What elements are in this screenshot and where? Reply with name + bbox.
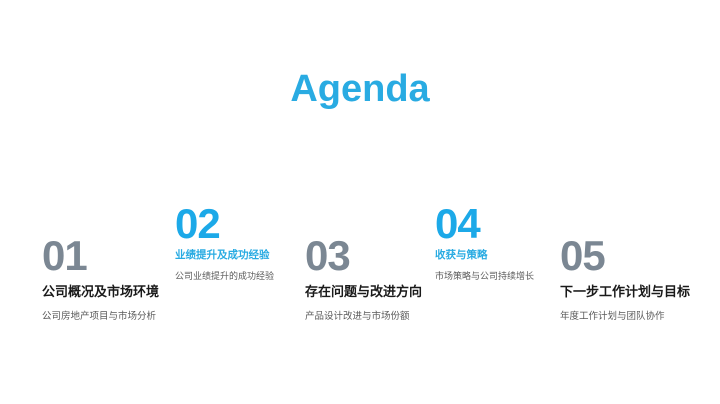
agenda-item-03[interactable]: 03 存在问题与改进方向 产品设计改进与市场份额 [305,190,455,340]
agenda-item-01[interactable]: 01 公司概况及市场环境 公司房地产项目与市场分析 [42,190,192,340]
page-title: Agenda [0,70,720,108]
agenda-item-list: 01 公司概况及市场环境 公司房地产项目与市场分析 02 业绩提升及成功经验 公… [0,190,720,340]
agenda-item-title: 业绩提升及成功经验 [175,250,270,262]
agenda-item-subtitle: 产品设计改进与市场份额 [305,312,410,322]
agenda-item-number: 03 [305,235,350,277]
agenda-item-title: 收获与策略 [435,250,488,262]
agenda-item-number: 04 [435,203,480,245]
agenda-item-title: 存在问题与改进方向 [305,285,422,299]
agenda-item-number: 02 [175,203,220,245]
agenda-item-title: 公司概况及市场环境 [42,285,159,299]
agenda-item-05[interactable]: 05 下一步工作计划与目标 年度工作计划与团队协作 [560,190,710,340]
agenda-item-subtitle: 年度工作计划与团队协作 [560,312,665,322]
agenda-item-02[interactable]: 02 业绩提升及成功经验 公司业绩提升的成功经验 [175,190,325,340]
agenda-item-subtitle: 公司房地产项目与市场分析 [42,312,156,322]
agenda-item-subtitle: 市场策略与公司持续增长 [435,272,534,282]
agenda-item-number: 01 [42,235,87,277]
agenda-item-title: 下一步工作计划与目标 [560,285,690,299]
agenda-item-number: 05 [560,235,605,277]
agenda-slide: Agenda 01 公司概况及市场环境 公司房地产项目与市场分析 02 业绩提升… [0,0,720,404]
agenda-item-subtitle: 公司业绩提升的成功经验 [175,272,274,282]
